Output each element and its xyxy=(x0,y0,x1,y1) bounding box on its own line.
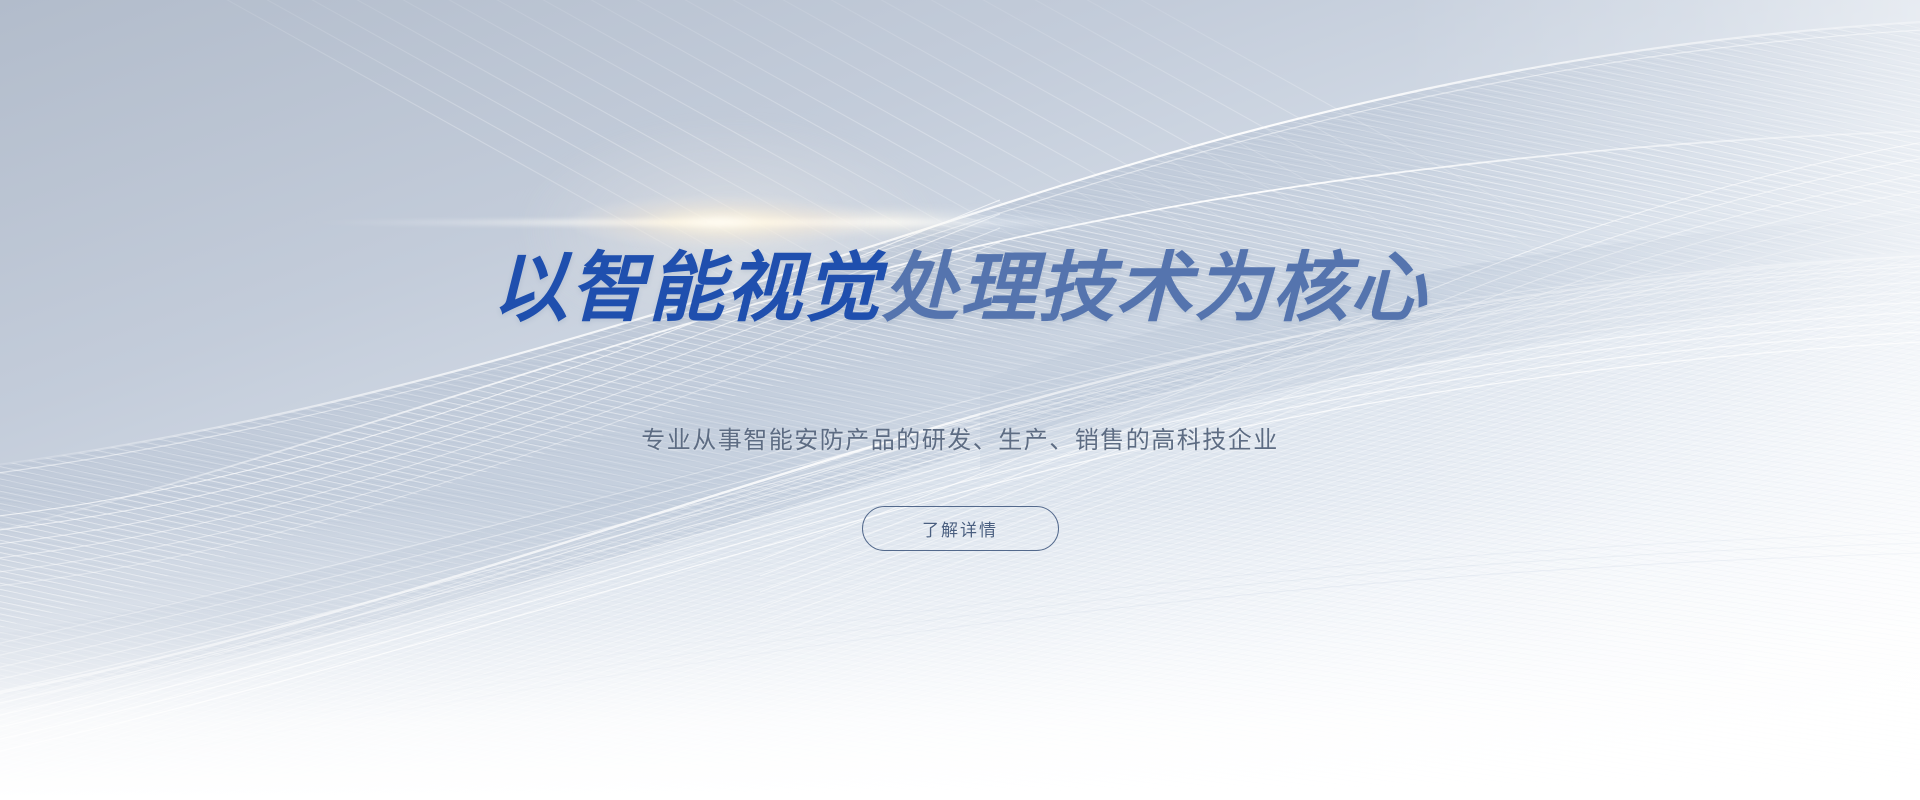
cta-container: 了解详情 xyxy=(0,506,1920,551)
headline-segment-secondary: 处理技术为核心 xyxy=(882,243,1428,332)
hero-subtitle: 专业从事智能安防产品的研发、生产、销售的高科技企业 xyxy=(0,422,1920,458)
hero-content: 以智能视觉处理技术为核心 专业从事智能安防产品的研发、生产、销售的高科技企业 了… xyxy=(0,0,1920,800)
hero-headline: 以智能视觉处理技术为核心 xyxy=(0,250,1920,326)
learn-more-button[interactable]: 了解详情 xyxy=(862,506,1059,551)
headline-segment-primary: 以智能视觉 xyxy=(492,243,882,332)
hero-banner: 以智能视觉处理技术为核心 专业从事智能安防产品的研发、生产、销售的高科技企业 了… xyxy=(0,0,1920,800)
